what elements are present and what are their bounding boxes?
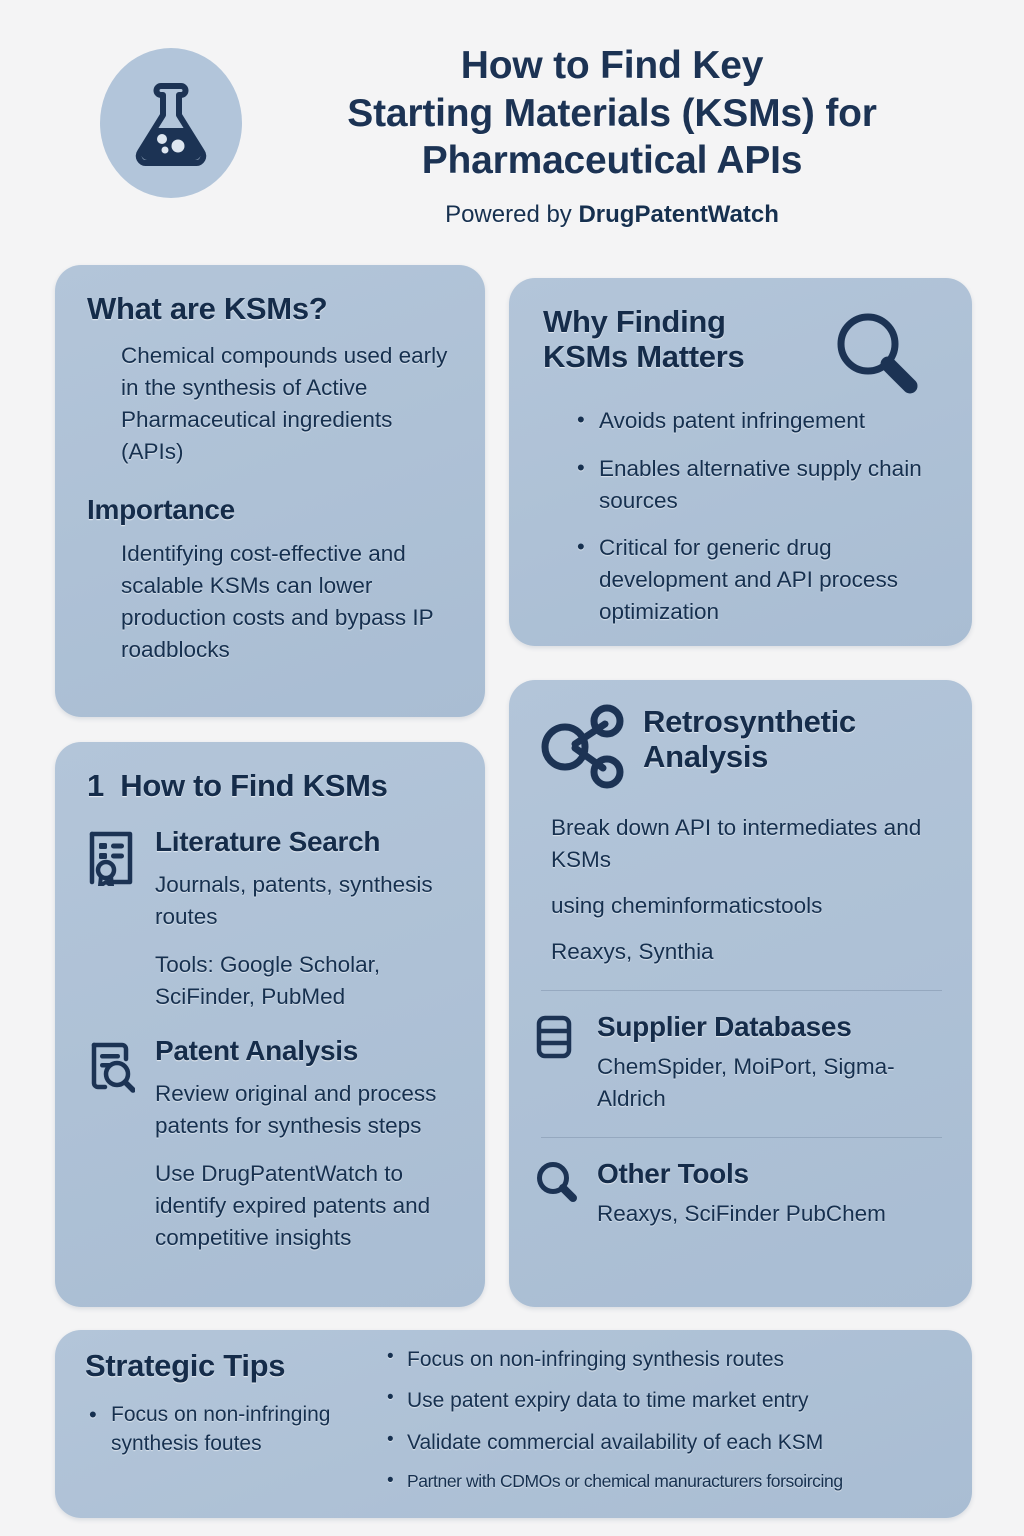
literature-search-line-2: Tools: Google Scholar, SciFinder, PubMed [155,949,459,1013]
list-item: Use patent expiry data to time market en… [385,1387,950,1414]
molecule-nodes-icon [535,704,627,792]
header: How to Find Key Starting Materials (KSMs… [0,0,1024,258]
retro-line-1: Break down API to intermediates and KSMs [551,812,948,876]
list-item: Enables alternative supply chain sources [573,453,944,517]
card-what-are-ksms: What are KSMs? Chemical compounds used e… [55,265,485,717]
importance-text: Identifying cost-effective and scalable … [87,538,455,666]
how-heading-row: 1 How to Find KSMs [87,768,459,804]
strategic-tips-heading: Strategic Tips [85,1348,375,1383]
database-stack-icon [535,1011,583,1115]
certificate-document-icon [87,826,141,1013]
flask-icon-badge [100,48,242,198]
magnifier-icon [535,1158,583,1230]
patent-analysis-title: Patent Analysis [155,1035,459,1067]
list-item: Focus on non-infringing synthesis routes [385,1346,950,1373]
title-block: How to Find Key Starting Materials (KSMs… [262,42,962,229]
page-title-line-2: Starting Materials (KSMs) for [262,90,962,138]
list-item: Avoids patent infringement [573,405,944,437]
literature-search-title: Literature Search [155,826,459,858]
list-item: Validate commercial availability of each… [385,1429,950,1456]
other-tools-item: Other Tools Reaxys, SciFinder PubChem [535,1158,948,1230]
retro-heading-row: Retrosynthetic Analysis [535,704,948,792]
literature-search-line-1: Journals, patents, synthesis routes [155,869,459,933]
literature-search-item: Literature Search Journals, patents, syn… [87,826,459,1013]
powered-by: Powered by DrugPatentWatch [262,201,962,229]
document-search-icon [87,1035,141,1254]
supplier-databases-text: ChemSpider, MoiPort, Sigma-Aldrich [597,1051,948,1115]
patent-analysis-line-1: Review original and process patents for … [155,1078,459,1142]
flask-icon [134,80,208,166]
list-item: Critical for generic drug development an… [573,532,944,628]
other-tools-title: Other Tools [597,1158,886,1190]
magnifier-icon [830,308,924,402]
how-to-find-ksms-heading: How to Find KSMs [120,768,387,803]
why-bullet-list: Avoids patent infringement Enables alter… [543,405,944,629]
patent-analysis-line-2: Use DrugPatentWatch to identify expired … [155,1158,459,1254]
list-item: Focus on non-infringing synthesis foutes [85,1401,375,1458]
supplier-databases-item: Supplier Databases ChemSpider, MoiPort, … [535,1011,948,1115]
divider [541,1137,942,1138]
step-number: 1 [87,768,104,804]
what-are-ksms-definition: Chemical compounds used early in the syn… [87,340,455,468]
retro-heading-line-2: Analysis [643,739,856,774]
why-heading-row: Why Finding KSMs Matters [543,304,944,375]
retro-line-2: using cheminformaticstools [551,890,948,922]
brand-name: DrugPatentWatch [578,201,778,228]
list-item: Partner with CDMOs or chemical manuractu… [385,1470,950,1493]
page-title-line-3: Pharmaceutical APIs [262,137,962,185]
strategic-tips-left: Strategic Tips Focus on non-infringing s… [85,1348,375,1460]
other-tools-text: Reaxys, SciFinder PubChem [597,1198,886,1230]
importance-heading: Importance [87,494,455,526]
divider [541,990,942,991]
card-retrosynthetic-analysis: Retrosynthetic Analysis Break down API t… [509,680,972,1307]
card-strategic-tips: Strategic Tips Focus on non-infringing s… [55,1330,972,1518]
strategic-tips-right-list: Focus on non-infringing synthesis routes… [385,1346,950,1493]
powered-by-prefix: Powered by [445,201,578,228]
infographic-page: How to Find Key Starting Materials (KSMs… [0,0,1024,1536]
retro-line-3: Reaxys, Synthia [551,936,948,968]
card-how-to-find-ksms: 1 How to Find KSMs [55,742,485,1307]
card-why-finding-ksms-matters: Why Finding KSMs Matters Avoids patent i… [509,278,972,646]
supplier-databases-title: Supplier Databases [597,1011,948,1043]
strategic-tips-left-list: Focus on non-infringing synthesis foutes [85,1401,375,1458]
retro-heading-line-1: Retrosynthetic [643,704,856,739]
what-are-ksms-heading: What are KSMs? [87,291,455,326]
strategic-tips-right: Focus on non-infringing synthesis routes… [385,1346,950,1507]
patent-analysis-item: Patent Analysis Review original and proc… [87,1035,459,1254]
retro-body: Break down API to intermediates and KSMs… [535,812,948,968]
page-title-line-1: How to Find Key [262,42,962,90]
